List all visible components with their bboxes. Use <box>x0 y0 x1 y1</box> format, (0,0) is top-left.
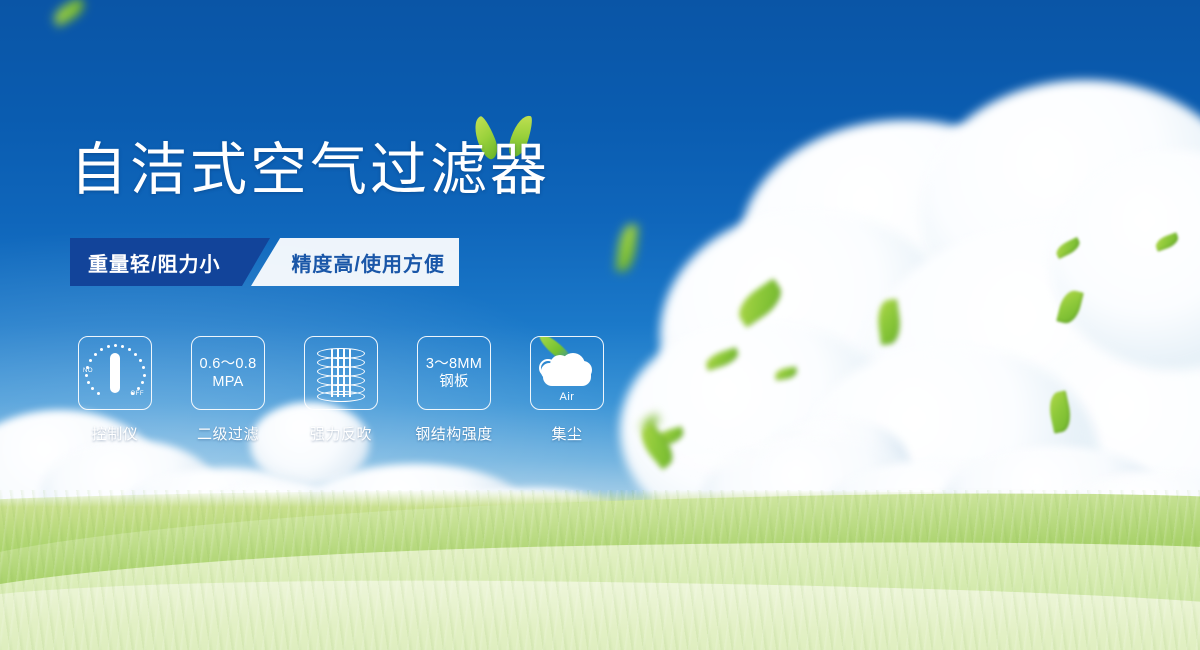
gauge-off-label: OFF <box>131 391 145 397</box>
feature-item-backblow[interactable]: 强力反吹 <box>304 336 378 444</box>
page-title: 自洁式空气过滤器 <box>70 142 550 199</box>
pressure-value: 0.6～0.8 <box>200 355 257 373</box>
feature-label: 钢结构强度 <box>415 423 493 444</box>
feature-label: 控制仪 <box>92 423 139 444</box>
feature-item-controller[interactable]: NO OFF 控制仪 <box>78 336 152 444</box>
subtitle-bar: 重量轻/阻力小 精度高/使用方便 <box>70 238 459 286</box>
grass-texture <box>0 490 1200 650</box>
gauge-icon: NO OFF <box>84 344 146 402</box>
feature-list: NO OFF 控制仪 0.6～0.8 MPA 二级过滤 <box>78 336 604 444</box>
subtitle-right-panel: 精度高/使用方便 <box>251 238 459 286</box>
feature-item-steel[interactable]: 3～8MM 钢板 钢结构强度 <box>417 336 491 444</box>
feature-item-dustcollect[interactable]: Air 集尘 <box>530 336 604 444</box>
feature-icon-box <box>304 336 378 410</box>
filter-coil-icon <box>315 346 367 400</box>
steel-material: 钢板 <box>426 373 482 391</box>
subtitle-left-text: 重量轻/阻力小 <box>70 248 221 277</box>
feature-label: 集尘 <box>551 423 582 444</box>
feature-label: 二级过滤 <box>197 423 259 444</box>
feature-icon-box: Air <box>530 336 604 410</box>
gauge-no-label: NO <box>83 368 93 374</box>
air-label: Air <box>537 391 597 403</box>
pressure-unit: MPA <box>200 373 257 391</box>
gauge-needle-icon <box>110 353 120 393</box>
subtitle-left-panel: 重量轻/阻力小 <box>70 238 270 286</box>
product-banner: 自洁式空气过滤器 重量轻/阻力小 精度高/使用方便 <box>0 0 1200 650</box>
steel-thickness: 3～8MM <box>426 355 482 373</box>
feature-label: 强力反吹 <box>310 423 372 444</box>
pressure-text-icon: 0.6～0.8 MPA <box>200 355 257 391</box>
feature-item-pressure[interactable]: 0.6～0.8 MPA 二级过滤 <box>191 336 265 444</box>
subtitle-right-text: 精度高/使用方便 <box>291 248 459 277</box>
air-cloud-icon: Air <box>537 347 597 399</box>
feature-icon-box: NO OFF <box>78 336 152 410</box>
feature-icon-box: 0.6～0.8 MPA <box>191 336 265 410</box>
feature-icon-box: 3～8MM 钢板 <box>417 336 491 410</box>
steel-plate-text-icon: 3～8MM 钢板 <box>426 355 482 391</box>
cirrus-wisp <box>700 430 820 452</box>
swirl-ring-icon <box>539 359 557 377</box>
